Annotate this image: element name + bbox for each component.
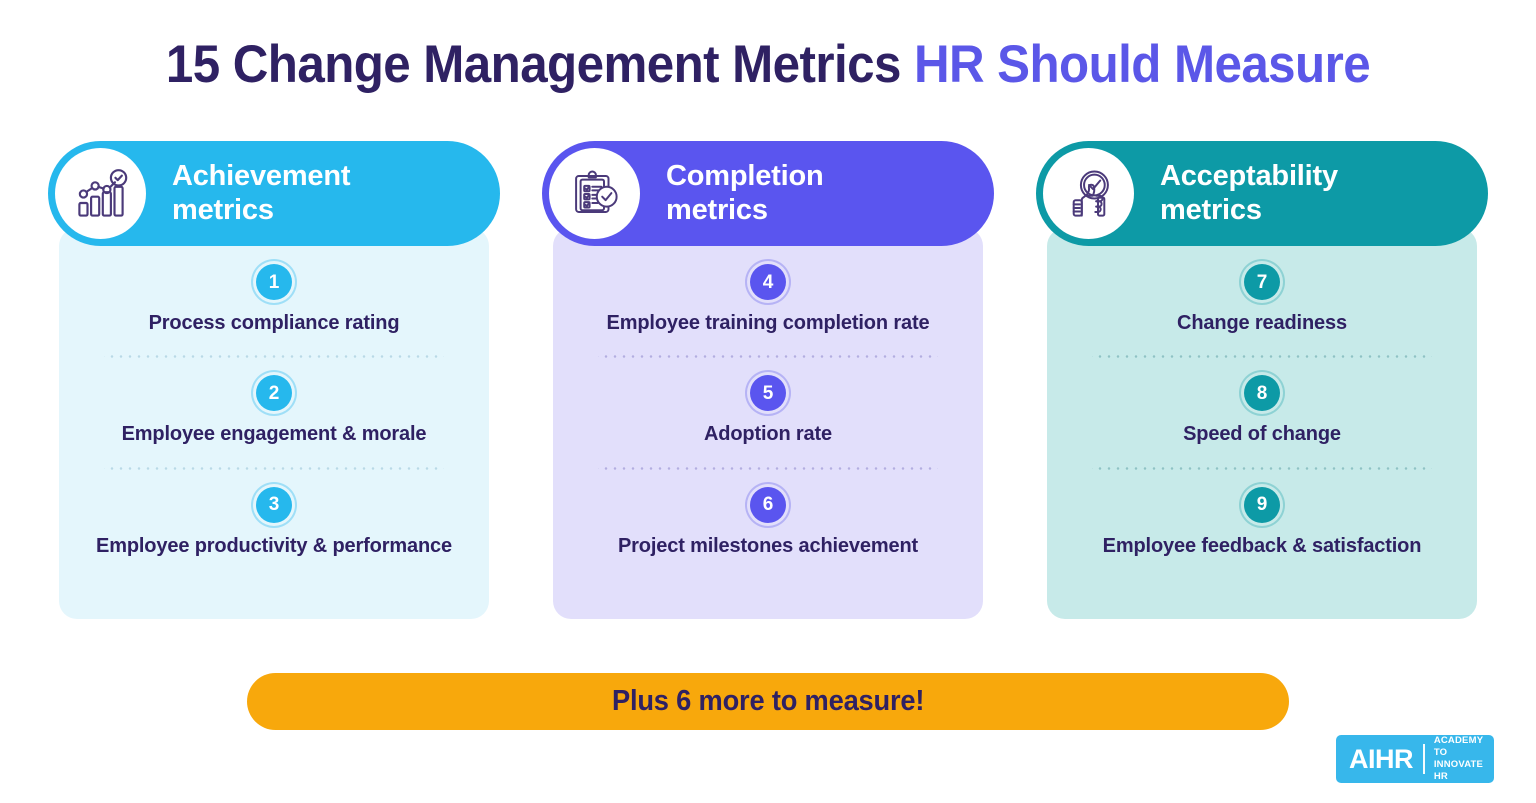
- metric-divider: [598, 355, 938, 358]
- metric-divider: [1092, 467, 1432, 470]
- metric-number: 4: [763, 273, 774, 292]
- metric-item: 3 Employee productivity & performance: [79, 487, 469, 559]
- logo-divider: [1423, 744, 1425, 774]
- aihr-logo: AIHR ACADEMY TOINNOVATE HR: [1336, 735, 1494, 783]
- metric-column-completion: Completionmetrics 4 Employee training co…: [542, 141, 994, 619]
- metric-divider: [104, 467, 444, 470]
- card-body-completion: 4 Employee training completion rate 5 Ad…: [553, 228, 983, 619]
- metric-number: 8: [1257, 384, 1268, 403]
- metric-badge: 3: [256, 487, 292, 523]
- card-body-acceptability: 7 Change readiness 8 Speed of change 9: [1047, 228, 1477, 619]
- metric-column-acceptability: Acceptabilitymetrics 7 Change readiness …: [1036, 141, 1488, 619]
- card-header-title: Achievementmetrics: [172, 160, 350, 226]
- page-title-main: 15 Change Management Metrics: [166, 35, 901, 94]
- metric-number: 9: [1257, 495, 1268, 514]
- infographic-page: 15 Change Management Metrics HR Should M…: [0, 0, 1536, 803]
- metric-divider: [1092, 355, 1432, 358]
- card-body-achievement: 1 Process compliance rating 2 Employee e…: [59, 228, 489, 619]
- metric-badge: 2: [256, 375, 292, 411]
- metric-divider: [598, 467, 938, 470]
- metric-columns: Achievementmetrics 1 Process compliance …: [48, 141, 1488, 619]
- metric-badge: 7: [1244, 264, 1280, 300]
- metric-label: Process compliance rating: [149, 310, 400, 336]
- metric-badge: 1: [256, 264, 292, 300]
- metric-label: Employee engagement & morale: [122, 421, 427, 447]
- metric-item: 9 Employee feedback & satisfaction: [1067, 487, 1457, 559]
- logo-tagline: ACADEMY TOINNOVATE HR: [1434, 735, 1494, 783]
- logo-wordmark: AIHR: [1349, 746, 1413, 773]
- metric-number: 2: [269, 384, 280, 403]
- metric-number: 6: [763, 495, 774, 514]
- metric-badge: 5: [750, 375, 786, 411]
- metric-badge: 4: [750, 264, 786, 300]
- thumbs-up-check-icon: [1043, 148, 1134, 239]
- metric-label: Speed of change: [1183, 421, 1341, 447]
- cta-label: Plus 6 more to measure!: [612, 685, 924, 718]
- clipboard-check-icon: [549, 148, 640, 239]
- metric-badge: 6: [750, 487, 786, 523]
- metric-item: 7 Change readiness: [1067, 264, 1457, 336]
- metric-label: Employee productivity & performance: [96, 533, 452, 559]
- metric-number: 1: [269, 273, 280, 292]
- metric-number: 5: [763, 384, 774, 403]
- metric-badge: 8: [1244, 375, 1280, 411]
- card-header-title: Acceptabilitymetrics: [1160, 160, 1338, 226]
- metric-label: Project milestones achievement: [618, 533, 918, 559]
- page-title-accent: HR Should Measure: [914, 35, 1370, 94]
- metric-item: 5 Adoption rate: [573, 375, 963, 447]
- metric-item: 4 Employee training completion rate: [573, 264, 963, 336]
- metric-label: Employee training completion rate: [607, 310, 930, 336]
- bar-chart-check-icon: [55, 148, 146, 239]
- metric-label: Employee feedback & satisfaction: [1103, 533, 1422, 559]
- metric-item: 6 Project milestones achievement: [573, 487, 963, 559]
- metric-number: 3: [269, 495, 280, 514]
- metric-item: 2 Employee engagement & morale: [79, 375, 469, 447]
- metric-item: 1 Process compliance rating: [79, 264, 469, 336]
- metric-badge: 9: [1244, 487, 1280, 523]
- metric-item: 8 Speed of change: [1067, 375, 1457, 447]
- card-header-achievement: Achievementmetrics: [48, 141, 500, 246]
- metric-number: 7: [1257, 273, 1268, 292]
- metric-divider: [104, 355, 444, 358]
- cta-banner[interactable]: Plus 6 more to measure!: [247, 673, 1289, 730]
- page-title: 15 Change Management Metrics HR Should M…: [54, 34, 1482, 95]
- metric-label: Adoption rate: [704, 421, 832, 447]
- card-header-completion: Completionmetrics: [542, 141, 994, 246]
- metric-column-achievement: Achievementmetrics 1 Process compliance …: [48, 141, 500, 619]
- card-header-acceptability: Acceptabilitymetrics: [1036, 141, 1488, 246]
- card-header-title: Completionmetrics: [666, 160, 824, 226]
- metric-label: Change readiness: [1177, 310, 1347, 336]
